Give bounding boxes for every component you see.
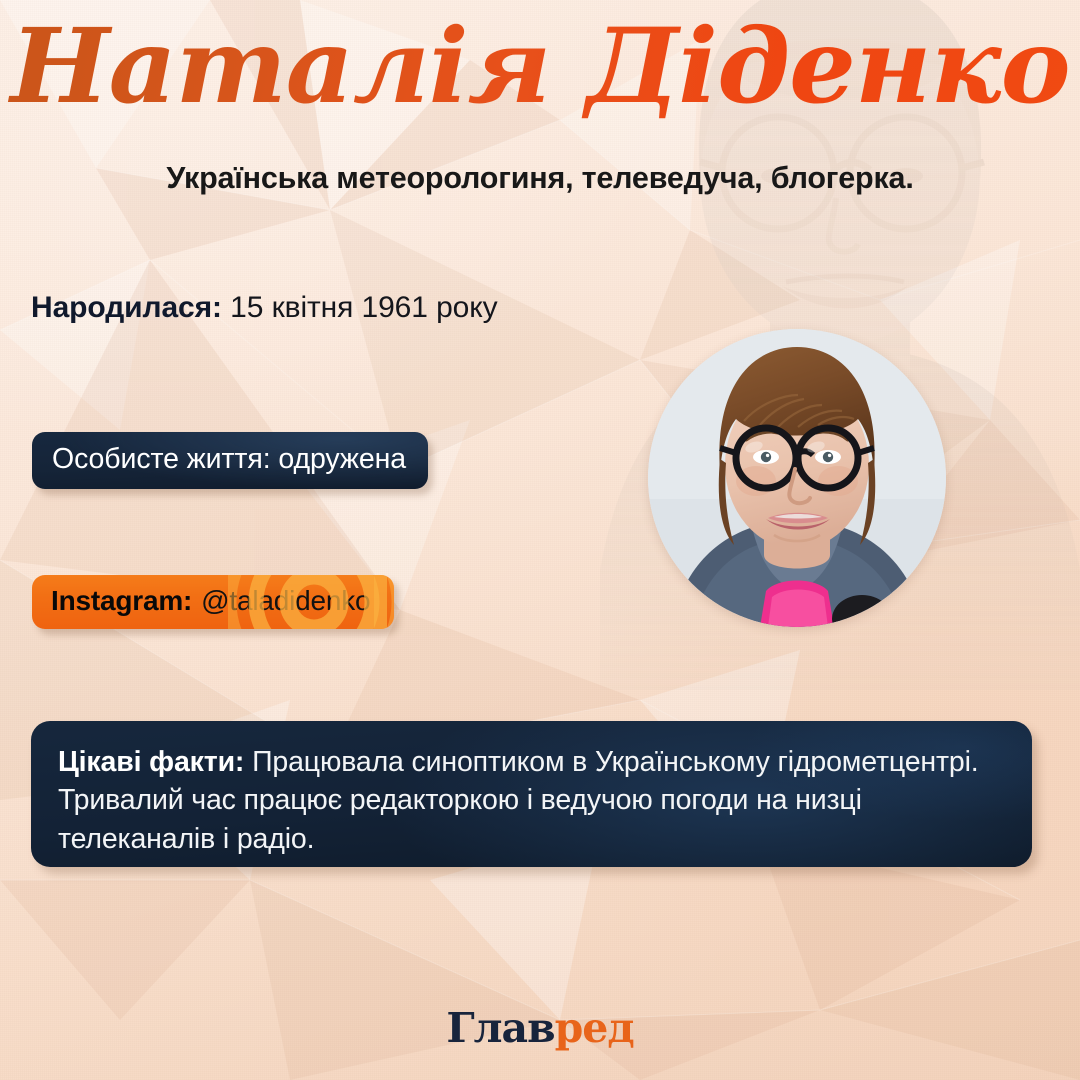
instagram-handle[interactable]: @taladidenko [201,585,370,617]
personal-life-text: Особисте життя: одружена [52,443,406,476]
personal-life-badge: Особисте життя: одружена [32,432,428,489]
infographic-canvas: Наталія Діденко Українська метеорологиня… [0,0,1080,1080]
logo-part-red: ред [555,1004,634,1052]
birth-line: Народилася: 15 квітня 1961 року [31,291,498,325]
logo-part-glav: Глав [446,1004,554,1052]
birth-value: 15 квітня 1961 року [230,291,497,324]
page-title: Наталія Діденко [0,6,1080,128]
instagram-label: Instagram: [51,585,192,617]
portrait-avatar [648,329,946,627]
glavred-logo[interactable]: Главред [0,1004,1080,1052]
fun-facts-panel: Цікаві факти: Працювала синоптиком в Укр… [31,721,1032,867]
fun-facts-label: Цікаві факти: [58,746,244,778]
page-subtitle: Українська метеорологиня, телеведуча, бл… [0,161,1080,196]
birth-label: Народилася: [31,291,222,324]
instagram-badge[interactable]: Instagram: @taladidenko [32,575,394,629]
